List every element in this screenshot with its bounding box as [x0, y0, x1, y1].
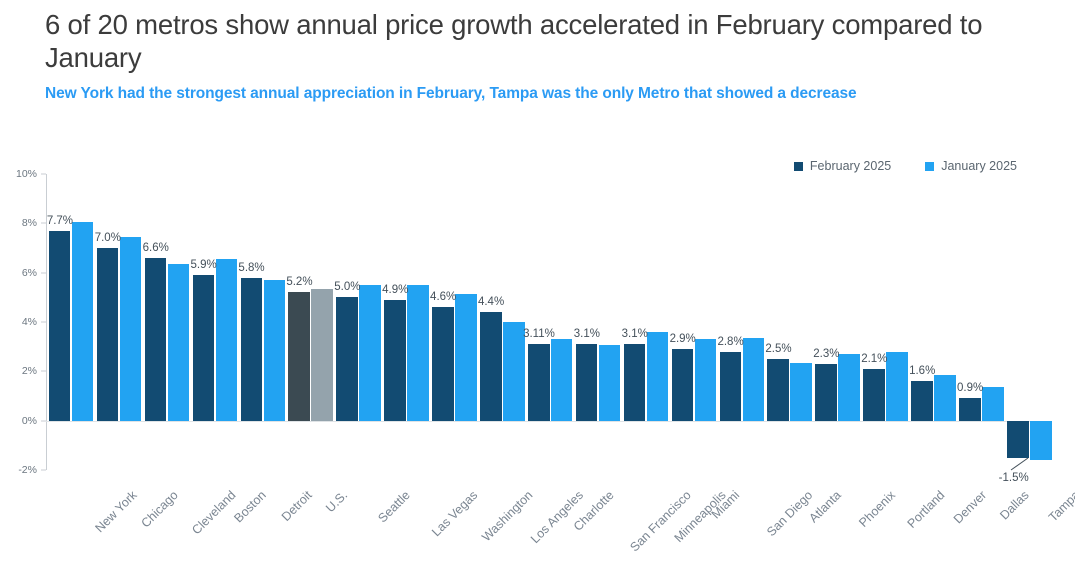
- y-axis: 10%8%6%4%2%0%-2%: [0, 168, 40, 488]
- bar-value-label: 7.7%: [47, 215, 73, 227]
- y-tick-label: 0%: [0, 415, 40, 427]
- bar-feb[interactable]: [97, 248, 119, 421]
- bar-group[interactable]: 3.11%: [526, 168, 574, 488]
- bar-value-label: 3.11%: [523, 328, 555, 340]
- x-tick-label: Cleveland: [189, 488, 238, 537]
- y-tick-mark: [41, 223, 46, 224]
- y-tick-mark: [41, 371, 46, 372]
- x-tick-label: Tampa: [1046, 488, 1075, 524]
- bar-feb[interactable]: [815, 364, 837, 421]
- bar-value-label: 2.5%: [765, 343, 791, 355]
- y-tick-label: 6%: [0, 267, 40, 279]
- y-tick-label: -2%: [0, 464, 40, 476]
- bar-value-label: 5.8%: [238, 262, 264, 274]
- bar-jan[interactable]: [503, 322, 525, 421]
- bar-group[interactable]: 5.0%: [334, 168, 382, 488]
- bar-feb[interactable]: [145, 258, 167, 421]
- bar-jan[interactable]: [1030, 421, 1052, 460]
- bar-group[interactable]: 2.8%: [718, 168, 766, 488]
- bar-feb[interactable]: [480, 312, 502, 421]
- bar-feb[interactable]: [336, 297, 358, 420]
- bar-jan[interactable]: [695, 339, 717, 420]
- bar-group[interactable]: -1.5%: [1005, 168, 1053, 488]
- x-tick-label: Dallas: [997, 488, 1031, 522]
- bar-feb[interactable]: [384, 300, 406, 421]
- y-tick-label: 2%: [0, 365, 40, 377]
- bar-jan[interactable]: [120, 237, 142, 421]
- bar-value-label: 2.9%: [670, 333, 696, 345]
- y-tick-mark: [41, 420, 46, 421]
- bar-jan[interactable]: [359, 285, 381, 421]
- x-tick-label: Denver: [951, 488, 989, 526]
- bar-group[interactable]: 4.4%: [478, 168, 526, 488]
- y-tick-mark: [41, 174, 46, 175]
- bar-feb[interactable]: [672, 349, 694, 421]
- bar-value-label: 2.8%: [717, 336, 743, 348]
- bar-jan[interactable]: [599, 345, 621, 420]
- bar-group[interactable]: 6.6%: [143, 168, 191, 488]
- bar-value-label: -1.5%: [999, 472, 1029, 484]
- chart-header: 6 of 20 metros show annual price growth …: [45, 8, 1055, 103]
- x-tick-label: Detroit: [279, 488, 315, 524]
- bar-value-label: 0.9%: [957, 382, 983, 394]
- bar-group[interactable]: 4.9%: [382, 168, 430, 488]
- bar-value-label: 4.6%: [430, 291, 456, 303]
- y-tick-mark: [41, 322, 46, 323]
- bar-feb[interactable]: [432, 307, 454, 420]
- bar-value-label: 5.0%: [334, 281, 360, 293]
- x-tick-label: New York: [92, 488, 139, 535]
- bar-jan[interactable]: [407, 285, 429, 421]
- x-tick-label: Chicago: [138, 488, 180, 530]
- bar-group[interactable]: 7.7%: [47, 168, 95, 488]
- bar-jan[interactable]: [264, 280, 286, 421]
- chart-page: 6 of 20 metros show annual price growth …: [0, 0, 1075, 562]
- bar-value-label: 2.3%: [813, 348, 839, 360]
- leader-line: [1010, 457, 1032, 471]
- y-tick-mark: [41, 272, 46, 273]
- bar-jan[interactable]: [934, 375, 956, 421]
- bar-jan[interactable]: [551, 339, 573, 420]
- bar-group[interactable]: 5.2%: [287, 168, 335, 488]
- bar-group[interactable]: 5.9%: [191, 168, 239, 488]
- bar-group[interactable]: 2.5%: [766, 168, 814, 488]
- x-tick-label: Las Vegas: [429, 488, 480, 539]
- bar-group[interactable]: 2.1%: [861, 168, 909, 488]
- bar-feb[interactable]: [767, 359, 789, 421]
- bars-container: 7.7%7.0%6.6%5.9%5.8%5.2%5.0%4.9%4.6%4.4%…: [47, 168, 1053, 488]
- bar-jan[interactable]: [72, 222, 94, 421]
- bar-feb[interactable]: [911, 381, 933, 420]
- bar-feb[interactable]: [720, 352, 742, 421]
- bar-jan[interactable]: [790, 363, 812, 421]
- page-title: 6 of 20 metros show annual price growth …: [45, 8, 1055, 74]
- bar-feb[interactable]: [863, 369, 885, 421]
- bar-feb[interactable]: [193, 275, 215, 421]
- x-tick-label: San Francisco: [627, 488, 693, 554]
- plot-area: 10%8%6%4%2%0%-2% 7.7%7.0%6.6%5.9%5.8%5.2…: [0, 168, 1075, 488]
- x-tick-label: U.S.: [323, 488, 350, 515]
- x-axis: New YorkChicagoClevelandBostonDetroitU.S…: [47, 488, 1053, 562]
- bar-feb[interactable]: [288, 292, 310, 420]
- bar-group[interactable]: 3.1%: [622, 168, 670, 488]
- bar-jan[interactable]: [647, 332, 669, 421]
- bar-value-label: 5.2%: [286, 276, 312, 288]
- bar-value-label: 5.9%: [191, 259, 217, 271]
- bar-group[interactable]: 0.9%: [957, 168, 1005, 488]
- x-tick-label: Seattle: [376, 488, 413, 525]
- bar-value-label: 3.1%: [622, 328, 648, 340]
- x-tick-label: Phoenix: [856, 488, 898, 530]
- chart-subtitle: New York had the strongest annual apprec…: [45, 84, 1040, 103]
- bar-feb[interactable]: [624, 344, 646, 420]
- y-tick-mark: [41, 470, 46, 471]
- bar-jan[interactable]: [982, 387, 1004, 420]
- bar-group[interactable]: 7.0%: [95, 168, 143, 488]
- y-tick-label: 10%: [0, 168, 40, 180]
- bar-jan[interactable]: [216, 259, 238, 421]
- bar-value-label: 3.1%: [574, 328, 600, 340]
- bar-value-label: 4.4%: [478, 296, 504, 308]
- bar-value-label: 7.0%: [95, 232, 121, 244]
- bar-jan[interactable]: [455, 294, 477, 421]
- bar-jan[interactable]: [743, 338, 765, 421]
- y-tick-label: 4%: [0, 316, 40, 328]
- bar-group[interactable]: 4.6%: [430, 168, 478, 488]
- x-tick-label: Portland: [905, 488, 948, 531]
- bar-group[interactable]: 3.1%: [574, 168, 622, 488]
- bar-feb[interactable]: [49, 231, 71, 421]
- y-tick-label: 8%: [0, 217, 40, 229]
- bar-jan[interactable]: [886, 352, 908, 421]
- bar-jan[interactable]: [311, 289, 333, 421]
- bar-group[interactable]: 2.3%: [813, 168, 861, 488]
- bar-group[interactable]: 2.9%: [670, 168, 718, 488]
- bar-jan[interactable]: [838, 354, 860, 421]
- bar-group[interactable]: 5.8%: [239, 168, 287, 488]
- x-tick-label: Boston: [232, 488, 269, 525]
- bar-value-label: 1.6%: [909, 365, 935, 377]
- bar-group[interactable]: 1.6%: [909, 168, 957, 488]
- bar-value-label: 6.6%: [143, 242, 169, 254]
- bar-feb[interactable]: [959, 398, 981, 420]
- bar-feb[interactable]: [576, 344, 598, 420]
- x-tick-label: Atlanta: [807, 488, 844, 525]
- bar-feb[interactable]: [1007, 421, 1029, 458]
- bar-jan[interactable]: [168, 264, 190, 421]
- bar-feb[interactable]: [528, 344, 550, 421]
- bar-feb[interactable]: [241, 278, 263, 421]
- bar-value-label: 2.1%: [861, 353, 887, 365]
- bar-value-label: 4.9%: [382, 284, 408, 296]
